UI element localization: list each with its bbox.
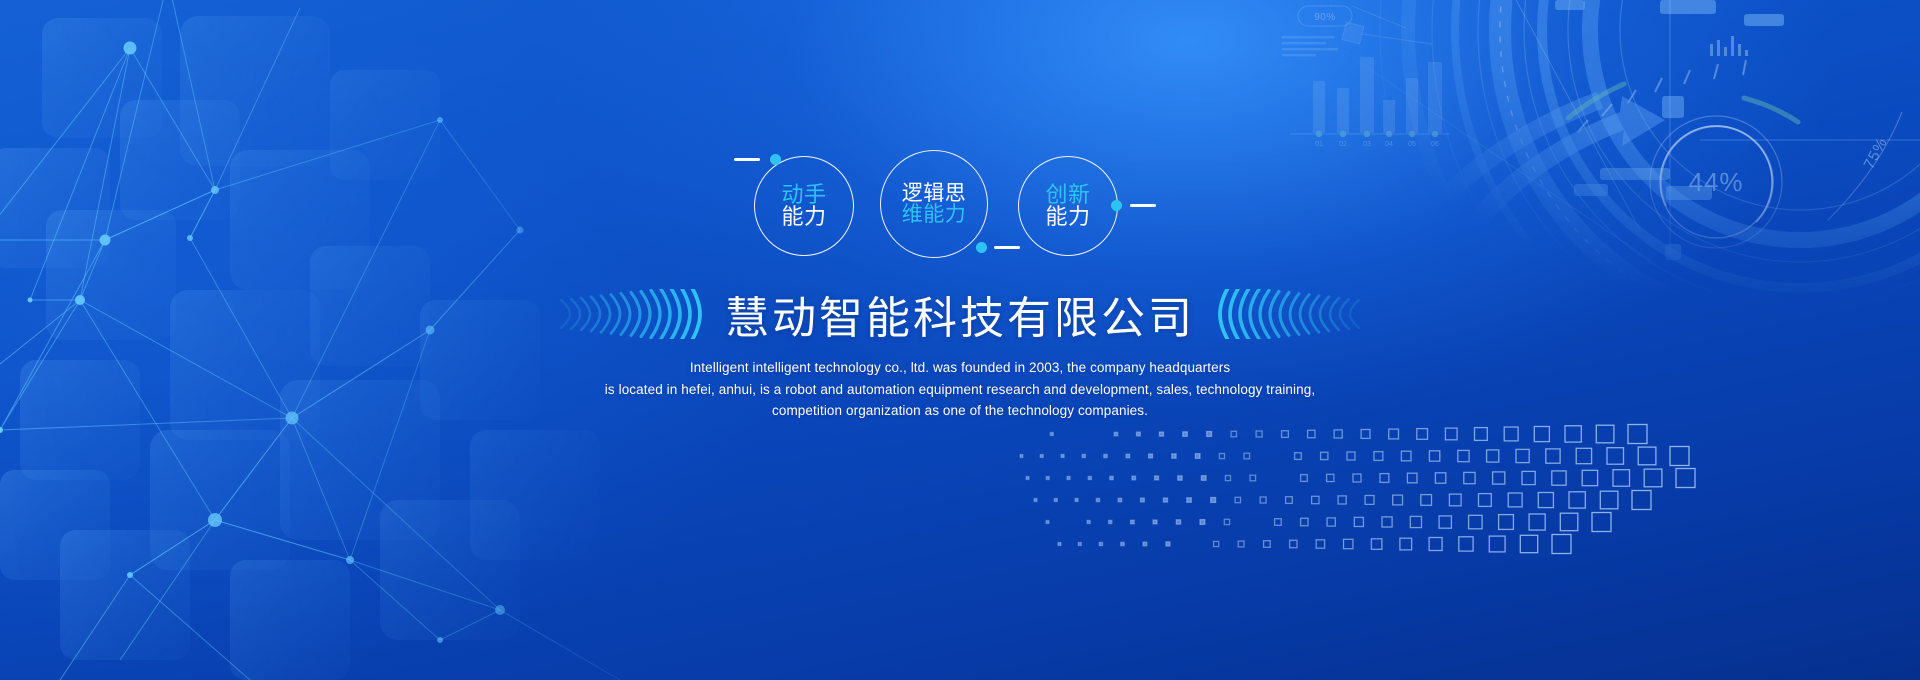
circle2-node-dot [976,242,987,253]
ability-line2: 维能力 [902,204,967,225]
circle3-node-dot [1111,200,1122,211]
circle1-dash [734,158,760,161]
hero-banner: 44% 75% 90% [0,0,1920,680]
circle3-dash [1130,204,1156,207]
company-title-row: 慧动智能科技有限公司 [0,285,1920,343]
chevron-right-decoration [1217,289,1367,339]
ability-circles: 动手 能力 逻辑思 维能力 创新 能力 [730,148,1190,263]
description-line-1: Intelligent intelligent technology co., … [605,357,1315,379]
ability-circle-logical-thinking[interactable]: 逻辑思 维能力 [880,150,988,258]
description-line-2: is located in hefei, anhui, is a robot a… [605,379,1315,401]
circle2-dash [994,246,1020,249]
chevron-left-decoration [553,289,703,339]
hero-content: 动手 能力 逻辑思 维能力 创新 能力 [0,0,1920,680]
ability-line1: 创新 [1045,184,1090,206]
ability-line2: 能力 [1045,206,1090,228]
company-description: Intelligent intelligent technology co., … [605,357,1315,422]
ability-line2: 能力 [781,206,826,228]
ability-line1: 动手 [781,184,826,206]
circle1-node-dot [770,154,781,165]
ability-circle-hands-on[interactable]: 动手 能力 [754,156,854,256]
ability-circle-innovation[interactable]: 创新 能力 [1018,156,1118,256]
ability-line1: 逻辑思 [902,183,967,204]
description-line-3: competition organization as one of the t… [605,400,1315,422]
page-title: 慧动智能科技有限公司 [703,282,1217,346]
